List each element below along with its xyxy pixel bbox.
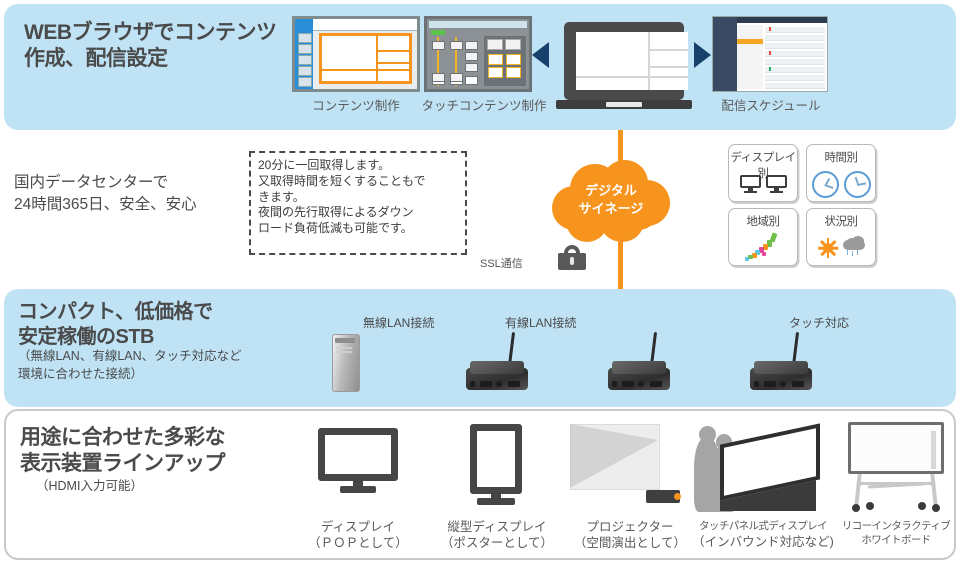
tile-by-display[interactable]: ディスプレイ別 — [728, 144, 798, 202]
caption-whiteboard: リコーインタラクティブ ホワイトボード — [836, 520, 956, 547]
caption-delivery-schedule: 配信スケジュール — [700, 98, 842, 114]
tile-by-region-label: 地域別 — [729, 213, 797, 229]
touch-kiosk-icon — [694, 424, 824, 516]
caption-touch-content-creation: タッチコンテンツ制作 — [400, 98, 568, 114]
tile-by-condition[interactable]: 状況別 — [806, 208, 876, 266]
tile-by-time-label: 時間別 — [807, 149, 875, 165]
diagram-canvas: WEBブラウザでコンテンツ 作成、配信設定 コンテンツ制作 — [0, 0, 960, 564]
arrow-left-icon — [532, 42, 549, 68]
interactive-whiteboard-icon — [844, 422, 948, 514]
caption-projector: プロジェクター （空間演出として） — [566, 519, 694, 552]
two-clocks-icon — [807, 169, 875, 199]
stb-box-device-3 — [750, 340, 812, 390]
caption-touch-kiosk-sub: （インバウンド対応など) — [688, 534, 838, 550]
projector-icon — [570, 424, 678, 510]
label-wired-connection: 有線LAN接続 — [505, 314, 576, 331]
panel-display-subtitle: （HDMI入力可能） — [36, 477, 143, 495]
panel-stb-subtitle: （無線LAN、有線LAN、タッチ対応など 環境に合わせた接続） — [18, 347, 318, 383]
cloud-digital-signage: デジタル サイネージ — [552, 160, 670, 242]
caption-touch-kiosk: タッチパネル式ディスプレイ （インバウンド対応など) — [688, 520, 838, 550]
japan-map-icon — [729, 233, 797, 263]
caption-portrait-display: 縦型ディスプレイ （ポスターとして） — [430, 519, 564, 552]
arrow-right-icon — [694, 42, 711, 68]
touch-editor-window-icon — [424, 16, 532, 92]
ssl-label: SSL通信 — [480, 255, 523, 271]
content-editor-window-icon — [292, 16, 420, 92]
two-monitors-icon — [729, 169, 797, 199]
label-wifi-connection: 無線LAN接続 — [363, 314, 434, 331]
caption-display: ディスプレイ （ＰＯＰとして） — [298, 519, 418, 552]
datacenter-text: 国内データセンターで 24時間365日、安全、安心 — [14, 172, 249, 217]
monitor-icon — [318, 428, 398, 494]
caption-whiteboard-sub: ホワイトボード — [836, 534, 956, 548]
tile-by-condition-label: 状況別 — [807, 213, 875, 229]
tile-by-time[interactable]: 時間別 — [806, 144, 876, 202]
stb-stick-device — [332, 334, 360, 392]
panel-stb-title: コンパクト、低価格で 安定稼働のSTB — [18, 300, 348, 350]
caption-display-sub: （ＰＯＰとして） — [298, 535, 418, 551]
portrait-monitor-icon — [465, 424, 527, 496]
caption-touch-kiosk-name: タッチパネル式ディスプレイ — [688, 520, 838, 534]
panel-web-title: WEBブラウザでコンテンツ 作成、配信設定 — [24, 20, 324, 73]
label-touch-support: タッチ対応 — [789, 314, 849, 331]
schedule-window-icon — [712, 16, 828, 92]
caption-projector-sub: （空間演出として） — [566, 535, 694, 551]
caption-whiteboard-name: リコーインタラクティブ — [836, 520, 956, 534]
caption-portrait-display-name: 縦型ディスプレイ — [430, 519, 564, 535]
stb-box-device-2 — [608, 340, 670, 390]
caption-projector-name: プロジェクター — [566, 519, 694, 535]
laptop-icon — [556, 22, 692, 114]
caption-display-name: ディスプレイ — [298, 519, 418, 535]
panel-display-title: 用途に合わせた多彩な 表示装置ラインアップ — [20, 425, 360, 478]
lock-icon — [558, 245, 586, 270]
stb-box-device-1 — [466, 340, 528, 390]
caption-portrait-display-sub: （ポスターとして） — [430, 535, 564, 551]
cloud-label: デジタル サイネージ — [552, 182, 670, 217]
tile-by-region[interactable]: 地域別 — [728, 208, 798, 266]
acquisition-note-box: 20分に一回取得します。 又取得時間を短くすることもで きます。 夜間の先行取得… — [249, 151, 467, 255]
sun-and-rain-icon — [807, 233, 875, 263]
